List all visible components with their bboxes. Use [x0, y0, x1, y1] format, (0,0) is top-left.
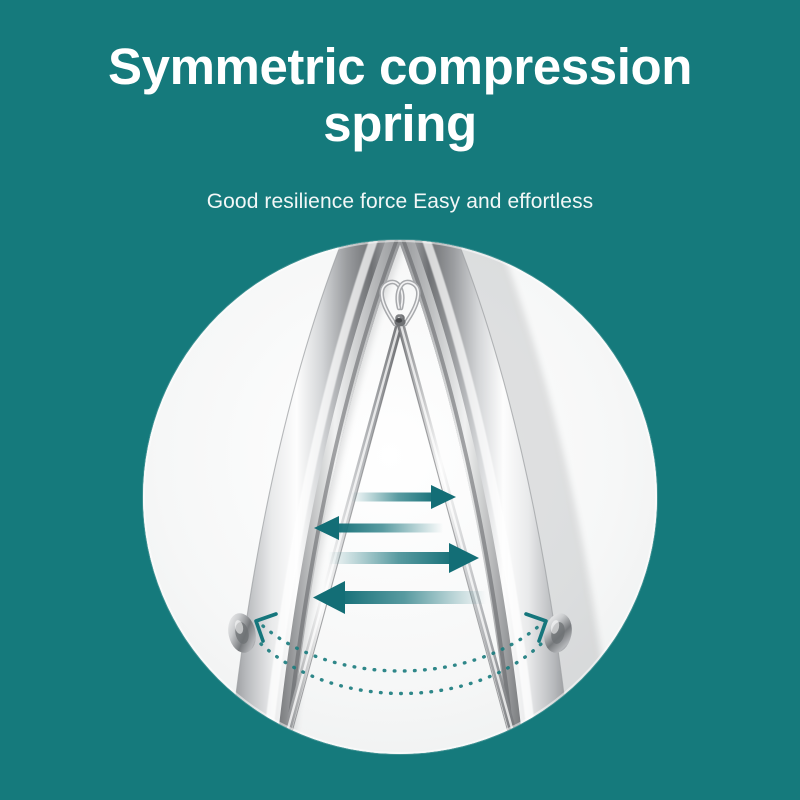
- product-photo-circle: [143, 240, 657, 754]
- page-subtitle: Good resilience force Easy and effortles…: [0, 190, 800, 214]
- product-feature-poster: Symmetric compression spring Good resili…: [0, 0, 800, 800]
- nipper-spring-illustration: [143, 240, 657, 754]
- headline-block: Symmetric compression spring: [0, 38, 800, 152]
- page-title: Symmetric compression spring: [0, 38, 800, 152]
